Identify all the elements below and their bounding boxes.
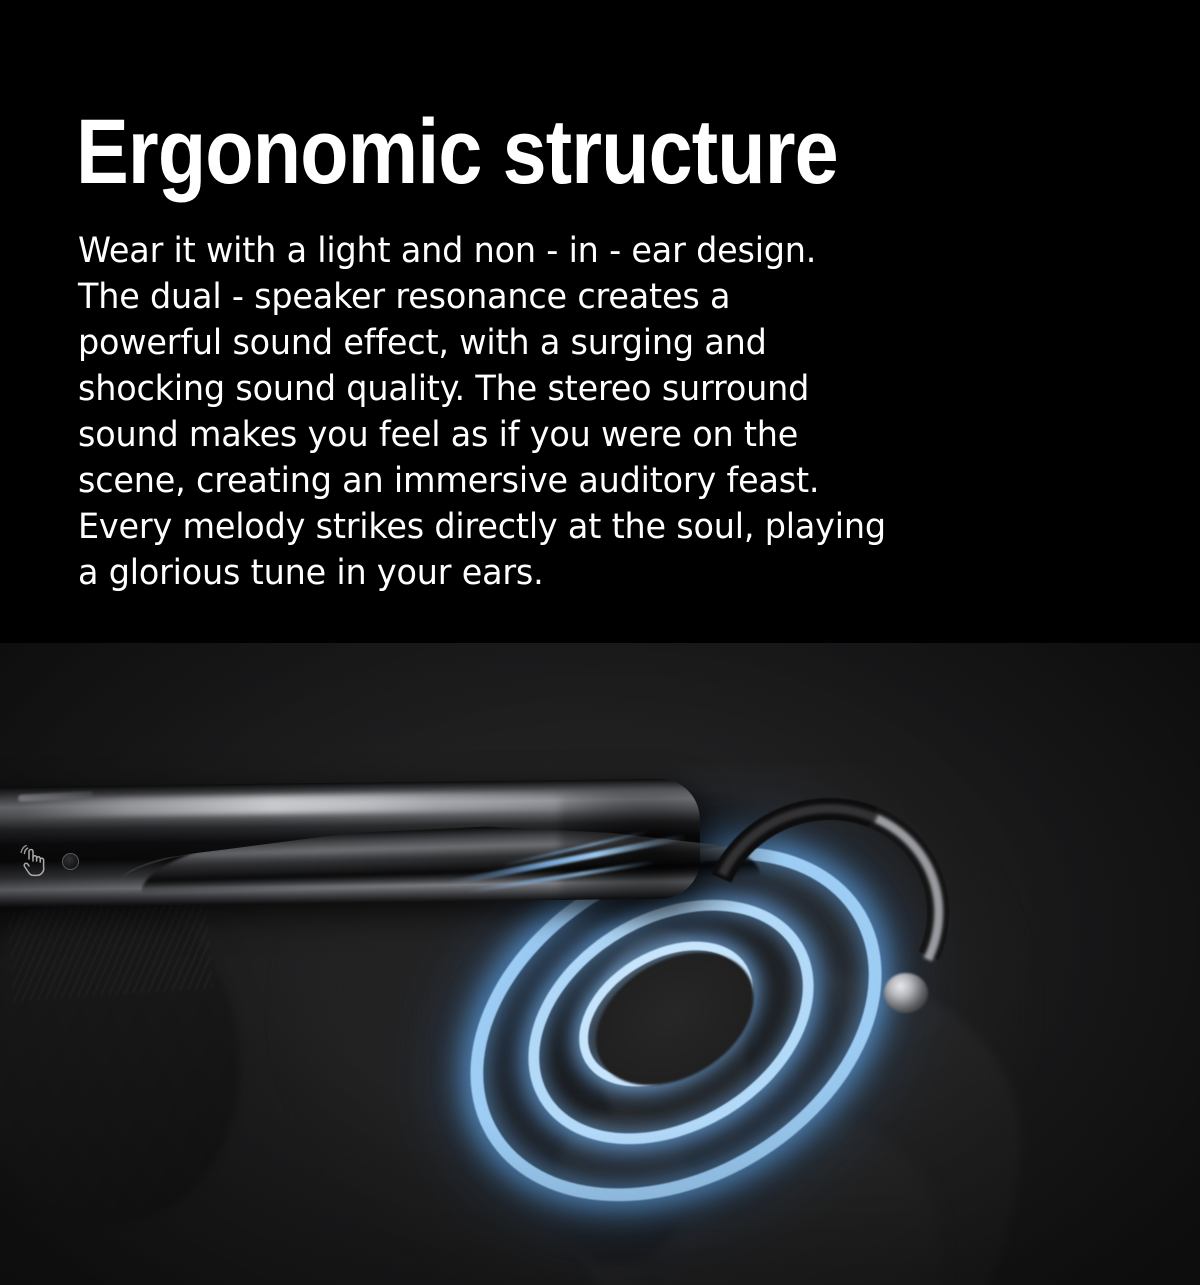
description-line: a glorious tune in your ears.	[78, 550, 1043, 596]
touch-control-icon	[18, 845, 48, 877]
description-line: The dual - speaker resonance creates a	[78, 274, 1043, 320]
description-line: sound makes you feel as if you were on t…	[78, 412, 1043, 458]
page-title: Ergonomic structure	[76, 106, 838, 198]
description-line: powerful sound effect, with a surging an…	[78, 320, 1043, 366]
temple-tip-end	[884, 973, 928, 1013]
description-line: Every melody strikes directly at the sou…	[78, 504, 1043, 550]
description-line: Wear it with a light and non - in - ear …	[78, 228, 1043, 274]
description-line: shocking sound quality. The stereo surro…	[78, 366, 1043, 412]
description-line: scene, creating an immersive auditory fe…	[78, 458, 1043, 504]
microphone-port-icon	[62, 853, 79, 870]
product-photo	[0, 643, 1200, 1285]
product-detail-page: Ergonomic structure Wear it with a light…	[0, 0, 1200, 1285]
feature-description: Wear it with a light and non - in - ear …	[78, 228, 1043, 596]
feature-text-panel: Ergonomic structure Wear it with a light…	[0, 0, 1200, 643]
hair-strands	[7, 898, 213, 1002]
